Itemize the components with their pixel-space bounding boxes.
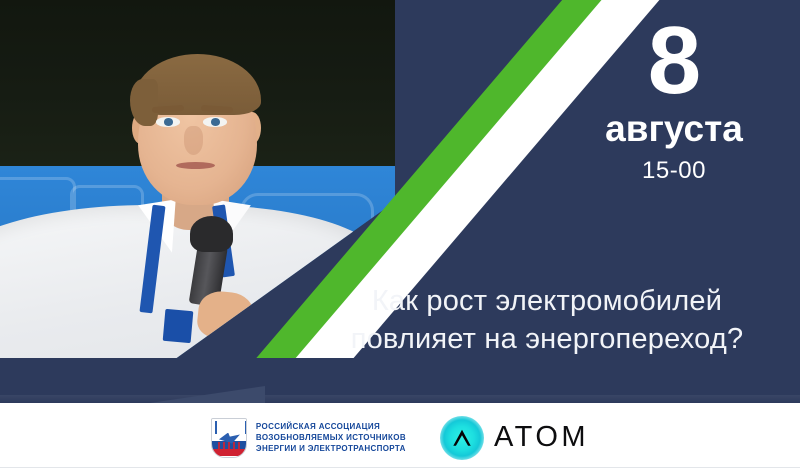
shield-slats [218,442,241,455]
event-time-label: 15-00 [570,158,778,184]
speaker-pupil-left [164,118,173,126]
ravi-text-line-2: ВОЗОБНОВЛЯЕМЫХ ИСТОЧНИКОВ [256,433,406,443]
lower-band-sheen [0,395,800,403]
event-announcement-banner: 8 августа 15-00 Как рост электромобилей … [0,0,800,472]
speaker-hair-side [130,79,158,126]
event-headline: Как рост электромобилей повлияет на энер… [312,283,782,358]
atom-chevron-glyph [451,427,473,449]
event-day-number: 8 [570,14,778,108]
ravi-logo-text: РОССИЙСКАЯ АССОЦИАЦИЯ ВОЗОБНОВЛЯЕМЫХ ИСТ… [256,422,406,454]
sponsor-footer: РОССИЙСКАЯ АССОЦИАЦИЯ ВОЗОБНОВЛЯЕМЫХ ИСТ… [0,403,800,472]
ravi-logo: РОССИЙСКАЯ АССОЦИАЦИЯ ВОЗОБНОВЛЯЕМЫХ ИСТ… [211,418,406,458]
russian-flag-shield-icon [211,418,247,458]
ravi-text-line-1: РОССИЙСКАЯ АССОЦИАЦИЯ [256,422,406,432]
shield-frame-lines [215,421,247,434]
speaker-nose [184,126,204,155]
event-date-block: 8 августа 15-00 [570,14,778,184]
atom-wordmark: ATOM [494,423,589,452]
footer-divider [0,467,800,468]
ravi-text-line-3: ЭНЕРГИИ И ЭЛЕКТРОТРАНСПОРТА [256,444,406,454]
lanyard-badge [163,308,193,343]
atom-logo: ATOM [440,416,589,460]
atom-chevron-icon [440,416,484,460]
headline-line-1: Как рост электромобилей [312,283,782,321]
event-month-label: августа [570,110,778,149]
headline-line-2: повлияет на энергопереход? [312,321,782,359]
microphone-head [190,216,233,252]
